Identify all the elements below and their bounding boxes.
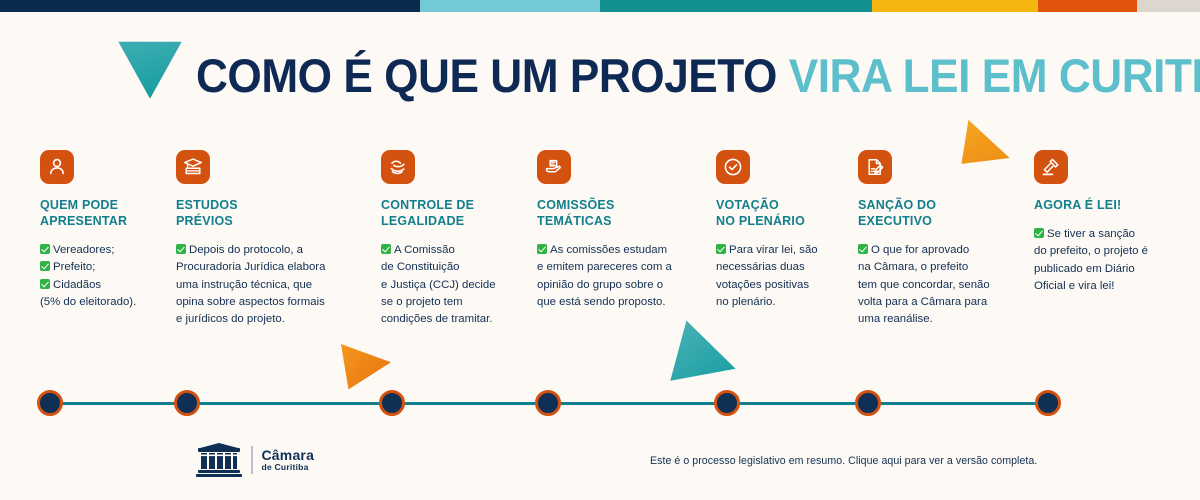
step-icon-badge-6 xyxy=(858,150,892,184)
step-1-line-4: (5% do eleitorado). xyxy=(40,294,165,311)
check-circle-icon xyxy=(722,156,744,178)
topbar-segment-light-gray xyxy=(1137,0,1200,12)
step-text: Depois do protocolo, a xyxy=(189,244,303,256)
graduation-book-icon xyxy=(182,156,204,178)
step-title-2: ESTUDOS PRÉVIOS xyxy=(176,197,356,229)
check-icon xyxy=(537,244,547,254)
step-5-line-1: Para virar lei, são xyxy=(716,242,851,259)
timeline-dot-3[interactable] xyxy=(379,390,405,416)
top-color-bar xyxy=(0,0,1200,12)
step-4-line-4: que está sendo proposto. xyxy=(537,294,702,311)
camara-building-icon xyxy=(196,443,242,477)
step-body-1: Vereadores;Prefeito;Cidadãos(5% do eleit… xyxy=(40,242,165,311)
step-3-line-2: de Constituição xyxy=(381,259,531,276)
step-text: Procuradoria Jurídica elabora xyxy=(176,261,325,273)
page-title-dark: COMO É QUE UM PROJETO xyxy=(196,49,777,102)
step-text: condições de tramitar. xyxy=(381,313,492,325)
step-text: volta para a Câmara para xyxy=(858,296,987,308)
timeline-dot-6[interactable] xyxy=(855,390,881,416)
step-6-line-2: na Câmara, o prefeito xyxy=(858,259,1018,276)
step-text: publicado em Diário xyxy=(1034,263,1135,275)
step-title-7: AGORA É LEI! xyxy=(1034,197,1184,213)
step-3-line-1: A Comissão xyxy=(381,242,531,259)
check-icon xyxy=(1034,228,1044,238)
step-text: Se tiver a sanção xyxy=(1047,228,1135,240)
step-title-5: VOTAÇÃO NO PLENÁRIO xyxy=(716,197,851,229)
step-1-line-1: Vereadores; xyxy=(40,242,165,259)
step-text: que está sendo proposto. xyxy=(537,296,666,308)
check-icon xyxy=(716,244,726,254)
page-title: COMO É QUE UM PROJETO VIRA LEI EM CURITI… xyxy=(196,52,1200,99)
step-column-1: QUEM PODE APRESENTARVereadores;Prefeito;… xyxy=(40,150,165,311)
step-text: As comissões estudam xyxy=(550,244,667,256)
step-6-line-1: O que for aprovado xyxy=(858,242,1018,259)
timeline-dot-4[interactable] xyxy=(535,390,561,416)
step-icon-badge-5 xyxy=(716,150,750,184)
gavel-icon xyxy=(1040,156,1062,178)
step-1-line-3: Cidadãos xyxy=(40,277,165,294)
step-5-line-4: no plenário. xyxy=(716,294,851,311)
check-icon xyxy=(40,244,50,254)
step-text: O que for aprovado xyxy=(871,244,969,256)
step-body-4: As comissões estudame emitem pareceres c… xyxy=(537,242,702,311)
step-4-line-3: opinião do grupo sobre o xyxy=(537,277,702,294)
logo-divider xyxy=(251,446,253,474)
step-6-line-3: tem que concordar, senão xyxy=(858,277,1018,294)
check-icon xyxy=(176,244,186,254)
step-text: e Justiça (CCJ) decide xyxy=(381,279,496,291)
step-text: Para virar lei, são xyxy=(729,244,818,256)
step-text: votações positivas xyxy=(716,279,809,291)
step-text: (5% do eleitorado). xyxy=(40,296,136,308)
step-icon-badge-4 xyxy=(537,150,571,184)
step-text: do prefeito, o projeto é xyxy=(1034,245,1148,257)
step-text: Vereadores; xyxy=(53,244,114,256)
step-text: Oficial e vira lei! xyxy=(1034,280,1114,292)
infographic-root: COMO É QUE UM PROJETO VIRA LEI EM CURITI… xyxy=(0,0,1200,500)
check-icon xyxy=(858,244,868,254)
step-text: A Comissão xyxy=(394,244,455,256)
timeline-dot-7[interactable] xyxy=(1035,390,1061,416)
hero-triangle-decoration xyxy=(114,38,186,100)
timeline xyxy=(0,390,1200,420)
topbar-segment-light-teal xyxy=(420,0,600,12)
step-column-7: AGORA É LEI!Se tiver a sançãodo prefeito… xyxy=(1034,150,1184,295)
step-icon-badge-7 xyxy=(1034,150,1068,184)
topbar-segment-orange xyxy=(1038,0,1137,12)
step-5-line-2: necessárias duas xyxy=(716,259,851,276)
steps-container: QUEM PODE APRESENTARVereadores;Prefeito;… xyxy=(0,150,1200,350)
step-icon-badge-3 xyxy=(381,150,415,184)
step-2-line-3: uma instrução técnica, que xyxy=(176,277,356,294)
step-6-line-5: uma reanálise. xyxy=(858,311,1018,328)
step-column-4: COMISSÕES TEMÁTICASAs comissões estudame… xyxy=(537,150,702,311)
step-text: no plenário. xyxy=(716,296,776,308)
step-3-line-4: se o projeto tem xyxy=(381,294,531,311)
step-title-6: SANÇÃO DO EXECUTIVO xyxy=(858,197,1018,229)
step-icon-badge-1 xyxy=(40,150,74,184)
hand-document-icon xyxy=(543,156,565,178)
step-2-line-5: e jurídicos do projeto. xyxy=(176,311,356,328)
logo-line-2: de Curitiba xyxy=(262,463,315,472)
step-text: de Constituição xyxy=(381,261,460,273)
logo-line-1: Câmara xyxy=(262,448,315,463)
step-text: opina sobre aspectos formais xyxy=(176,296,325,308)
sign-document-icon xyxy=(864,156,886,178)
check-icon xyxy=(40,279,50,289)
step-column-6: SANÇÃO DO EXECUTIVOO que for aprovadona … xyxy=(858,150,1018,329)
step-7-line-3: publicado em Diário xyxy=(1034,261,1184,278)
timeline-dot-2[interactable] xyxy=(174,390,200,416)
step-body-2: Depois do protocolo, aProcuradoria Juríd… xyxy=(176,242,356,329)
topbar-segment-teal xyxy=(600,0,872,12)
step-title-3: CONTROLE DE LEGALIDADE xyxy=(381,197,531,229)
step-7-line-2: do prefeito, o projeto é xyxy=(1034,243,1184,260)
step-2-line-4: opina sobre aspectos formais xyxy=(176,294,356,311)
step-3-line-5: condições de tramitar. xyxy=(381,311,531,328)
step-7-line-4: Oficial e vira lei! xyxy=(1034,278,1184,295)
step-4-line-1: As comissões estudam xyxy=(537,242,702,259)
step-4-line-2: e emitem pareceres com a xyxy=(537,259,702,276)
step-text: Prefeito; xyxy=(53,261,95,273)
scales-hand-icon xyxy=(387,156,409,178)
topbar-segment-navy xyxy=(0,0,420,12)
step-text: opinião do grupo sobre o xyxy=(537,279,663,291)
step-5-line-3: votações positivas xyxy=(716,277,851,294)
step-text: se o projeto tem xyxy=(381,296,463,308)
check-icon xyxy=(40,261,50,271)
page-title-teal: VIRA LEI EM CURITIBA xyxy=(789,49,1200,102)
camara-logo[interactable]: Câmara de Curitiba xyxy=(196,443,314,477)
timeline-dot-5[interactable] xyxy=(714,390,740,416)
step-2-line-2: Procuradoria Jurídica elabora xyxy=(176,259,356,276)
step-body-6: O que for aprovadona Câmara, o prefeitot… xyxy=(858,242,1018,329)
step-1-line-2: Prefeito; xyxy=(40,259,165,276)
step-3-line-3: e Justiça (CCJ) decide xyxy=(381,277,531,294)
step-body-7: Se tiver a sançãodo prefeito, o projeto … xyxy=(1034,226,1184,295)
step-text: e emitem pareceres com a xyxy=(537,261,672,273)
step-2-line-1: Depois do protocolo, a xyxy=(176,242,356,259)
timeline-dot-1[interactable] xyxy=(37,390,63,416)
step-text: e jurídicos do projeto. xyxy=(176,313,285,325)
step-text: necessárias duas xyxy=(716,261,805,273)
step-text: Cidadãos xyxy=(53,279,101,291)
step-6-line-4: volta para a Câmara para xyxy=(858,294,1018,311)
topbar-segment-yellow xyxy=(872,0,1038,12)
step-title-1: QUEM PODE APRESENTAR xyxy=(40,197,165,229)
step-title-4: COMISSÕES TEMÁTICAS xyxy=(537,197,702,229)
step-text: uma instrução técnica, que xyxy=(176,279,312,291)
step-body-3: A Comissãode Constituiçãoe Justiça (CCJ)… xyxy=(381,242,531,329)
step-text: uma reanálise. xyxy=(858,313,933,325)
step-body-5: Para virar lei, sãonecessárias duasvotaç… xyxy=(716,242,851,311)
step-text: na Câmara, o prefeito xyxy=(858,261,968,273)
step-icon-badge-2 xyxy=(176,150,210,184)
check-icon xyxy=(381,244,391,254)
step-column-5: VOTAÇÃO NO PLENÁRIOPara virar lei, sãone… xyxy=(716,150,851,311)
person-icon xyxy=(46,156,68,178)
step-7-line-1: Se tiver a sanção xyxy=(1034,226,1184,243)
step-column-2: ESTUDOS PRÉVIOSDepois do protocolo, aPro… xyxy=(176,150,356,329)
step-column-3: CONTROLE DE LEGALIDADEA Comissãode Const… xyxy=(381,150,531,329)
footer-note[interactable]: Este é o processo legislativo em resumo.… xyxy=(650,455,1037,467)
step-text: tem que concordar, senão xyxy=(858,279,990,291)
